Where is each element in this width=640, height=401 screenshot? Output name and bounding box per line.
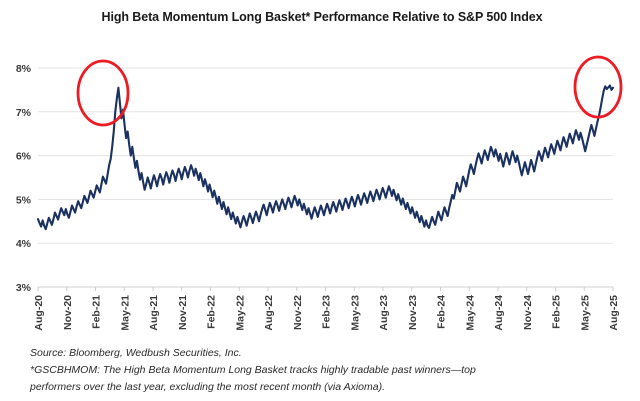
footnote-line-1: *GSCBHMOM: The High Beta Momentum Long B… — [30, 362, 620, 379]
x-axis-labels-group: Aug-20Nov-20Feb-21May-21Aug-21Nov-21Feb-… — [33, 295, 620, 331]
x-tick-label: Aug-21 — [148, 295, 160, 331]
chart-plot-area: 3%4%5%6%7%8% Aug-20Nov-20Feb-21May-21Aug… — [0, 0, 640, 345]
x-tick-label: Aug-24 — [493, 295, 505, 331]
x-tick-label: Aug-22 — [263, 295, 275, 331]
source-line: Source: Bloomberg, Wedbush Securities, I… — [30, 345, 620, 362]
x-tick-label: Nov-21 — [177, 295, 189, 330]
x-tick-label: Feb-23 — [321, 295, 333, 329]
x-tick-label: Nov-20 — [62, 295, 74, 330]
x-tick-label: Feb-24 — [436, 295, 448, 329]
x-tick-label: Feb-25 — [551, 295, 563, 329]
x-tick-label: Feb-21 — [91, 295, 103, 329]
aug-25-spike-circle — [575, 57, 621, 117]
x-tick-label: Nov-24 — [522, 295, 534, 330]
x-tick-label: Aug-23 — [378, 295, 390, 331]
x-tick-label: Nov-22 — [292, 295, 304, 330]
footnote-block: Source: Bloomberg, Wedbush Securities, I… — [30, 345, 620, 396]
y-tick-label: 5% — [16, 194, 32, 206]
x-tick-label: Nov-23 — [407, 295, 419, 330]
x-tick-label: May-24 — [464, 295, 476, 331]
feb-21-peak-circle — [78, 61, 128, 125]
x-tick-label: Aug-20 — [33, 295, 45, 331]
y-tick-label: 6% — [16, 151, 32, 163]
x-tick-label: May-25 — [579, 295, 591, 331]
y-axis-labels-group: 3%4%5%6%7%8% — [16, 63, 32, 294]
x-tick-label: May-23 — [349, 295, 361, 331]
y-tick-label: 7% — [16, 107, 32, 119]
chart-figure: High Beta Momentum Long Basket* Performa… — [0, 0, 640, 401]
x-tick-label: May-22 — [234, 295, 246, 331]
x-tick-label: May-21 — [119, 295, 131, 331]
y-tick-label: 4% — [16, 238, 32, 250]
annotation-circles-group — [78, 57, 621, 125]
y-tick-label: 8% — [16, 63, 32, 75]
footnote-line-2: performers over the last year, excluding… — [30, 379, 620, 396]
x-tick-label: Feb-22 — [206, 295, 218, 329]
gridlines-group — [38, 68, 613, 287]
y-tick-label: 3% — [16, 282, 32, 294]
x-axis-ticks-group — [38, 287, 613, 291]
x-tick-label: Aug-25 — [608, 295, 620, 331]
